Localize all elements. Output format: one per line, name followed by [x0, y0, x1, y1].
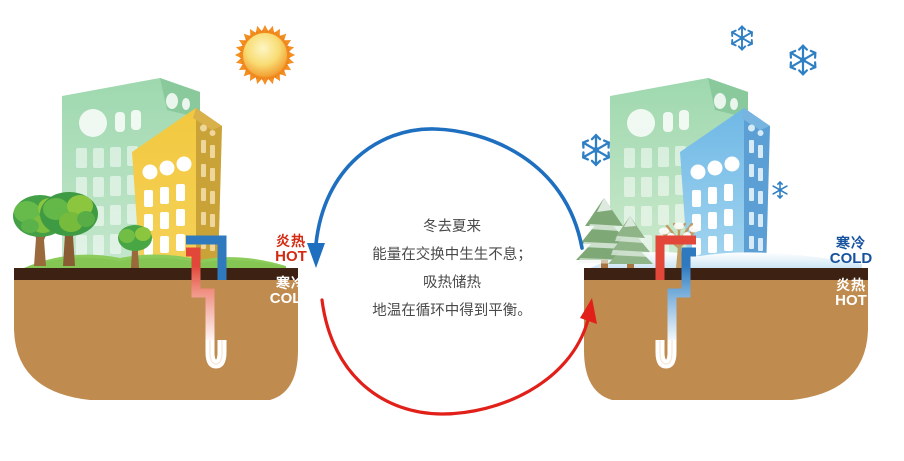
diagram-canvas: 炎热 HOT 寒冷 COLD 寒冷 COLD 炎热 HOT 冬去夏来 能量在交换…: [0, 0, 904, 461]
sun-icon: [235, 25, 295, 85]
snowflake-icon: [583, 135, 609, 165]
caption-line-3: 吸热储热: [330, 269, 574, 297]
snowflake-icon: [773, 182, 787, 198]
snowflake-icon: [791, 46, 816, 75]
ground-block-right: [584, 252, 868, 400]
center-caption: 冬去夏来 能量在交换中生生不息； 吸热储热 地温在循环中得到平衡。: [330, 213, 574, 325]
snowflake-icon: [732, 26, 752, 49]
caption-line-1: 冬去夏来: [330, 213, 574, 241]
caption-line-4: 地温在循环中得到平衡。: [330, 297, 574, 325]
caption-line-2: 能量在交换中生生不息；: [330, 241, 574, 269]
ground-block-left: [14, 254, 298, 400]
